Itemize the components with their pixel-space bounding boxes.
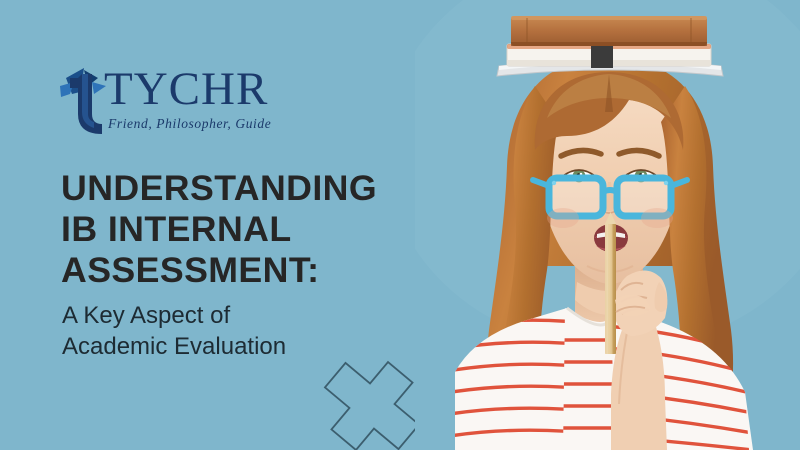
blog-banner: TYCHR Friend, Philosopher, Guide UNDERST… — [0, 0, 800, 450]
logo-wordmark: TYCHR — [104, 66, 268, 113]
subtitle-line-2: Academic Evaluation — [62, 331, 392, 362]
page-subtitle: A Key Aspect of Academic Evaluation — [62, 300, 392, 362]
page-title: UNDERSTANDING IB INTERNAL ASSESSMENT: — [61, 168, 469, 291]
subtitle-line-1: A Key Aspect of — [62, 300, 392, 331]
pencil — [605, 212, 616, 354]
logo-tagline: Friend, Philosopher, Guide — [108, 116, 271, 132]
cross-bottom-left-icon — [316, 356, 428, 450]
woman-with-books-illustration — [415, 0, 800, 450]
book-top — [511, 16, 707, 46]
hero-photo — [415, 0, 800, 450]
headline-line-3: ASSESSMENT: — [61, 250, 469, 291]
headline-line-2: IB INTERNAL — [61, 209, 469, 250]
tychr-logo[interactable]: TYCHR Friend, Philosopher, Guide — [58, 62, 298, 150]
headline-line-1: UNDERSTANDING — [61, 168, 469, 209]
